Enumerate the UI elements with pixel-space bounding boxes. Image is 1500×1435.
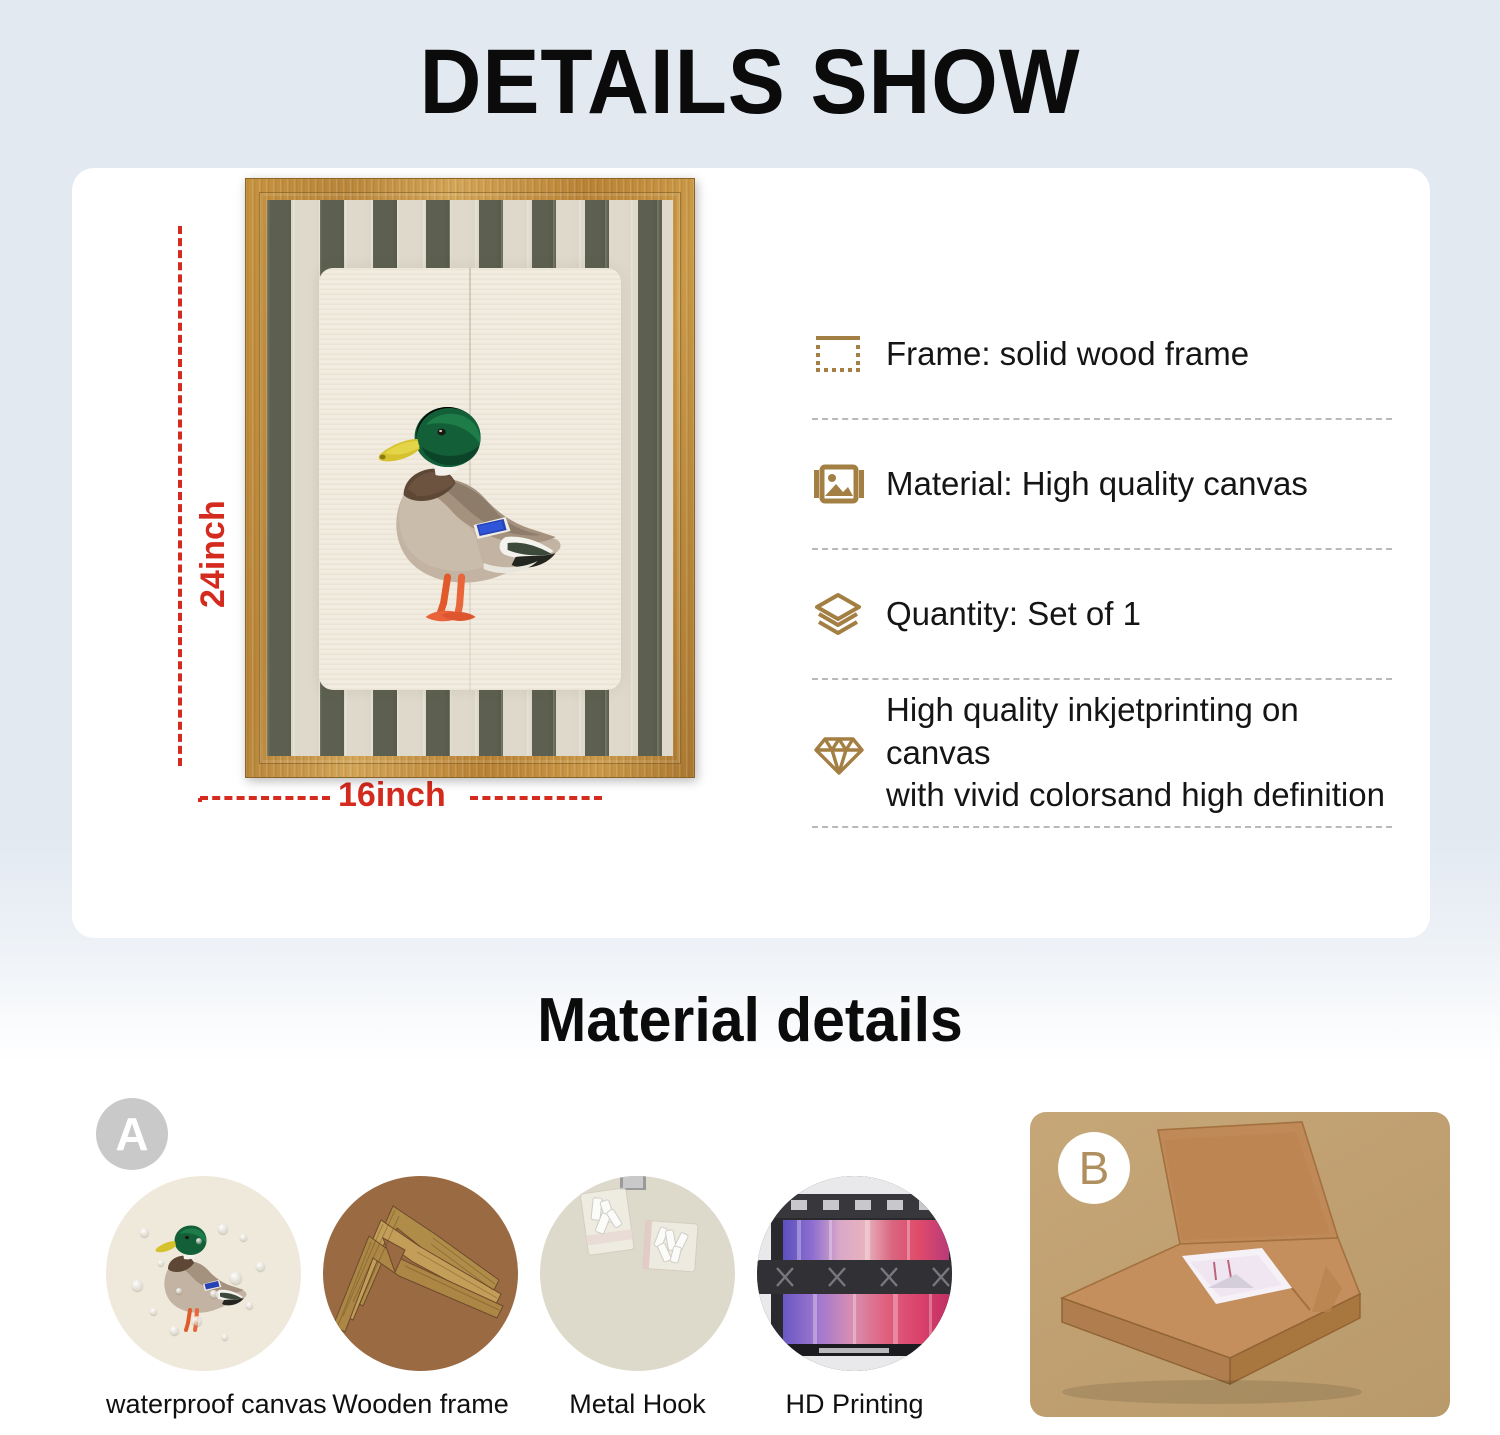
feature-row-frame: Frame: solid wood frame (812, 290, 1392, 418)
waterproof-canvas-image (106, 1176, 301, 1371)
water-droplet (176, 1288, 182, 1294)
framed-artwork-preview: 24inch 16inch (170, 178, 710, 828)
swatch-hd-printing: HD Printing (757, 1176, 952, 1420)
water-droplet (210, 1290, 218, 1298)
feature-row-material: Material: High quality canvas (812, 420, 1392, 548)
water-droplet (256, 1262, 265, 1271)
layers-icon (812, 590, 886, 638)
width-guide-line-right (470, 796, 602, 800)
water-droplet (150, 1308, 157, 1315)
water-droplet (222, 1334, 228, 1340)
height-dimension-label: 24inch (194, 500, 233, 608)
duck-svg (356, 377, 576, 627)
material-swatch-list: waterproof canvas (106, 1176, 952, 1420)
water-droplet (230, 1272, 242, 1284)
feature-list: Frame: solid wood frame Material: High q… (812, 290, 1392, 828)
feature-row-quantity: Quantity: Set of 1 (812, 550, 1392, 678)
water-droplet (246, 1302, 253, 1309)
water-droplet (170, 1326, 179, 1335)
swatch-wooden-frame: Wooden frame (323, 1176, 518, 1420)
feature-label-frame: Frame: solid wood frame (886, 333, 1249, 376)
material-details-title: Material details (38, 985, 1463, 1056)
details-show-section: DETAILS SHOW 24inch 16inch (0, 0, 1500, 960)
height-guide-line (178, 226, 182, 766)
swatch-label-waterproof-canvas: waterproof canvas (106, 1389, 301, 1420)
water-droplet (192, 1316, 202, 1326)
page-title: DETAILS SHOW (53, 34, 1448, 131)
water-droplet (218, 1224, 228, 1234)
feature-divider-4 (812, 826, 1392, 828)
metal-hook-image (540, 1176, 735, 1371)
feature-label-material: Material: High quality canvas (886, 463, 1308, 506)
details-card: 24inch 16inch (72, 168, 1430, 938)
water-droplet (196, 1238, 202, 1244)
picture-frame (245, 178, 695, 778)
swatch-metal-hook: Metal Hook (540, 1176, 735, 1420)
hd-printing-image (757, 1176, 952, 1371)
wooden-frame-image (323, 1176, 518, 1371)
width-guide-line (200, 796, 330, 800)
water-droplet (132, 1280, 143, 1291)
badge-a: A (96, 1098, 168, 1170)
material-group-a: A (96, 1098, 976, 1428)
feature-row-printing: High quality inkjetprinting on canvas wi… (812, 680, 1392, 826)
canvas-artwork (267, 200, 673, 756)
width-dimension-label: 16inch (338, 776, 446, 815)
swatch-label-wooden-frame: Wooden frame (323, 1389, 518, 1420)
feature-label-printing: High quality inkjetprinting on canvas wi… (886, 689, 1392, 818)
diamond-icon (812, 728, 886, 778)
swatch-waterproof-canvas: waterproof canvas (106, 1176, 301, 1420)
picture-icon (812, 462, 886, 506)
swatch-label-metal-hook: Metal Hook (540, 1389, 735, 1420)
water-droplet (240, 1234, 247, 1241)
badge-b: B (1058, 1132, 1130, 1204)
water-droplet (158, 1260, 164, 1266)
mallard-duck-illustration (356, 377, 576, 627)
water-droplet (140, 1228, 149, 1237)
material-group-b: B (1030, 1112, 1450, 1417)
feature-label-quantity: Quantity: Set of 1 (886, 593, 1141, 636)
cream-panel (319, 268, 621, 690)
swatch-label-hd-printing: HD Printing (757, 1389, 952, 1420)
frame-icon (812, 331, 886, 377)
